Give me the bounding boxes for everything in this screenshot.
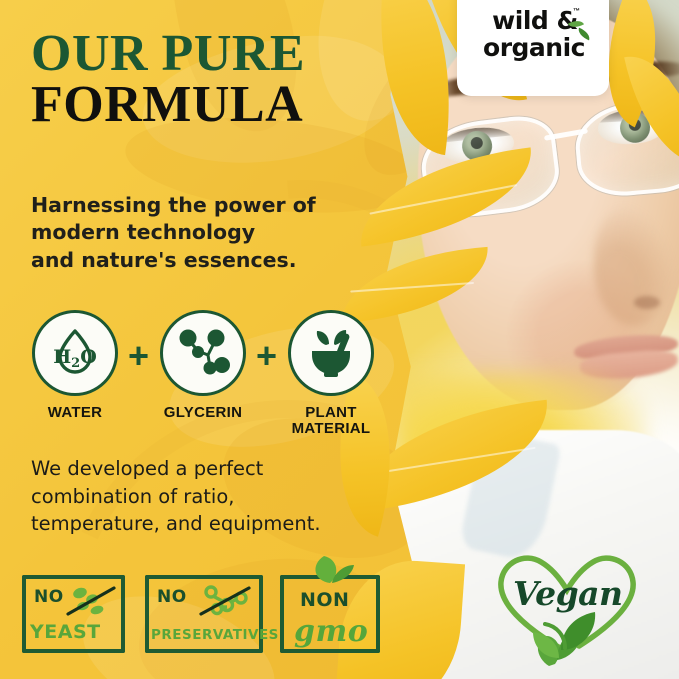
badge-frame xyxy=(155,575,253,579)
brand-logo[interactable]: wild & organic ™ xyxy=(457,0,609,96)
leaf-vein xyxy=(350,282,474,293)
subheading-line-2: modern technology xyxy=(31,219,391,246)
badge-frame xyxy=(155,649,253,653)
badge-non-gmo: NON gmo xyxy=(280,575,380,653)
ingredient-icon-circle: H2O xyxy=(32,310,118,396)
body-line-1: We developed a perfect xyxy=(31,455,386,483)
ingredient-label-line-1: WATER xyxy=(32,405,118,421)
badge-line-2: YEAST xyxy=(30,621,101,643)
plus-separator: + xyxy=(256,338,277,374)
svg-text:H2O: H2O xyxy=(53,346,97,371)
ingredient-label-line-1: PLANT xyxy=(288,405,374,421)
headline-line-1: OUR PURE xyxy=(31,28,431,79)
badge-line-1: NO xyxy=(157,587,187,607)
ingredient-label: WATER xyxy=(32,405,118,421)
vegan-label: Vegan xyxy=(513,574,623,613)
subheading: Harnessing the power of modern technolog… xyxy=(31,192,391,274)
ingredient-plant-material: PLANT MATERIAL xyxy=(288,310,374,437)
trademark-symbol: ™ xyxy=(573,8,580,15)
ingredient-icon-circle xyxy=(160,310,246,396)
body-line-2: combination of ratio, xyxy=(31,483,386,511)
ingredient-glycerin: GLYCERIN xyxy=(160,310,246,421)
molecule-icon xyxy=(174,325,232,381)
badge-frame xyxy=(290,649,370,653)
ingredient-water: H2O WATER xyxy=(32,310,118,421)
ingredient-label: PLANT MATERIAL xyxy=(288,405,374,437)
vegan-badge: Vegan xyxy=(487,540,647,675)
page-title: OUR PURE FORMULA xyxy=(31,28,431,131)
badge-no-preservatives: NO PRESERVATIVES xyxy=(145,575,263,653)
badge-no-yeast: NO YEAST xyxy=(22,575,125,653)
ingredient-icon-circle xyxy=(288,310,374,396)
logo-line-1: wild & xyxy=(457,8,609,33)
badge-frame xyxy=(32,575,115,579)
yeast-crossed-out-icon xyxy=(66,585,118,619)
subheading-line-3: and nature's essences. xyxy=(31,247,391,274)
water-drop-h2o-icon: H2O xyxy=(47,325,103,381)
subheading-line-1: Harnessing the power of xyxy=(31,192,391,219)
preservatives-crossed-out-icon xyxy=(197,583,253,619)
badge-frame xyxy=(32,649,115,653)
body-line-3: temperature, and equipment. xyxy=(31,510,386,538)
ingredient-label-line-2: MATERIAL xyxy=(288,421,374,437)
nostril xyxy=(634,296,660,309)
badge-line-1: NON xyxy=(300,589,349,611)
infographic-canvas: wild & organic ™ OUR PURE FORMULA Harnes… xyxy=(0,0,679,679)
ingredient-list: H2O WATER + xyxy=(32,310,392,450)
badge-line-1: NO xyxy=(34,587,64,607)
plus-separator: + xyxy=(128,338,149,374)
nose xyxy=(594,206,674,326)
mortar-pestle-icon xyxy=(302,325,360,381)
claim-badges: NO YEAST NO PRESERVATIVES xyxy=(22,567,372,662)
headline-line-2: FORMULA xyxy=(31,79,431,130)
ingredient-label: GLYCERIN xyxy=(160,405,246,421)
badge-line-2: gmo xyxy=(294,614,368,649)
ingredient-label-line-1: GLYCERIN xyxy=(160,405,246,421)
badge-line-2: PRESERVATIVES xyxy=(151,627,279,643)
leaf-icon xyxy=(302,553,360,585)
body-text: We developed a perfect combination of ra… xyxy=(31,455,386,538)
